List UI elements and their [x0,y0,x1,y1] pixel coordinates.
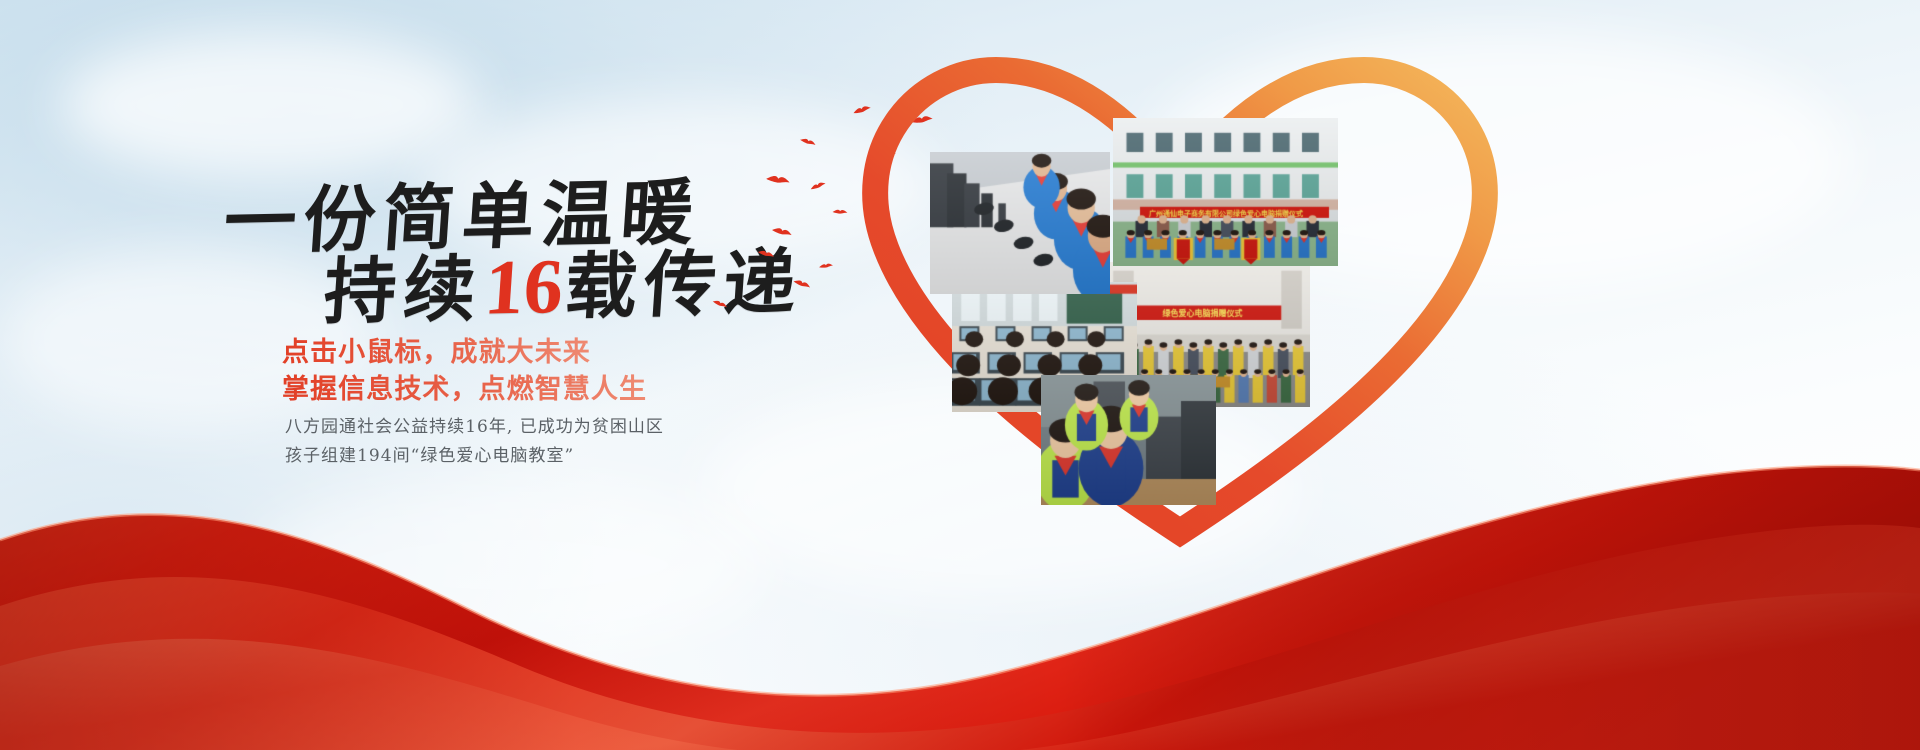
photo-computer-lab-students [930,152,1110,294]
subtitle-line-2: 掌握信息技术，点燃智慧人生 [282,367,647,406]
photo-school-donation-ceremony [1113,118,1338,266]
headline-line-2-prefix: 持续 [321,246,485,334]
body-text-line-2: 孩子组建194间“绿色爱心电脑教室” [285,441,574,466]
headline-line-2-suffix: 载传递 [562,239,806,329]
banner-stage: 一份简单温暖 持续16载传递 点击小鼠标，成就大未来 掌握信息技术，点燃智慧人生… [0,0,1920,750]
body-text-line-1: 八方园通社会公益持续16年, 已成功为贫困山区 [285,412,664,437]
heart-photo-collage [820,40,1540,560]
photo-boys-at-computers [1041,375,1216,505]
headline-line-2: 持续16载传递 [321,223,807,338]
headline-years-number: 16 [480,241,568,333]
subtitle-line-1: 点击小鼠标，成就大未来 [282,330,591,369]
banner-text-block: 一份简单温暖 持续16载传递 点击小鼠标，成就大未来 掌握信息技术，点燃智慧人生… [0,0,860,620]
